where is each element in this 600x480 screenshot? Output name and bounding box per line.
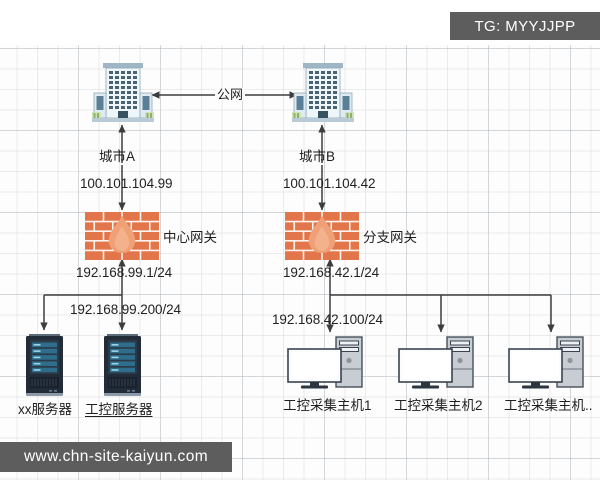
node-gateway-center[interactable]: [85, 212, 159, 265]
server-tower-icon: [104, 334, 141, 396]
node-server-ics[interactable]: [104, 334, 141, 401]
desktop-pc-icon: [398, 336, 474, 390]
node-label-gateway-branch: 分支网关: [363, 231, 417, 245]
node-city-b[interactable]: [292, 60, 354, 131]
diagram-canvas: 城市A: [0, 0, 600, 480]
node-label-city-a: 城市A: [99, 150, 135, 164]
node-host-pc2[interactable]: [398, 336, 474, 395]
node-gateway-branch[interactable]: [285, 212, 359, 265]
office-building-icon: [92, 60, 154, 126]
watermark-top-right: TG: MYYJJPP: [450, 12, 600, 40]
node-host-pc3[interactable]: [508, 336, 584, 395]
node-label-city-b: 城市B: [299, 150, 335, 164]
edge-label-branch-lan-gw: 192.168.42.1/24: [283, 266, 379, 280]
node-label-host-pc1: 工控采集主机1: [283, 399, 372, 413]
firewall-icon: [285, 212, 359, 260]
edge-label-branch-lan-host: 192.168.42.100/24: [272, 313, 383, 327]
edge-label-center-lan-gw: 192.168.99.1/24: [76, 266, 172, 280]
node-server-xx[interactable]: [26, 334, 63, 401]
edge-label-city-a-ip: 100.101.104.99: [80, 177, 172, 191]
watermark-bottom-left: www.chn-site-kaiyun.com: [0, 442, 232, 472]
node-host-pc1[interactable]: [287, 336, 363, 395]
node-city-a[interactable]: [92, 60, 154, 131]
edge-label-center-lan-host: 192.168.99.200/24: [70, 303, 181, 317]
node-label-gateway-center: 中心网关: [163, 231, 217, 245]
desktop-pc-icon: [287, 336, 363, 390]
node-label-host-pc2: 工控采集主机2: [394, 399, 483, 413]
edge-label-city-b-ip: 100.101.104.42: [283, 177, 375, 191]
server-tower-icon: [26, 334, 63, 396]
desktop-pc-icon: [508, 336, 584, 390]
edge-label-public-network: 公网: [215, 88, 245, 101]
node-label-server-xx: xx服务器: [18, 403, 72, 417]
node-label-server-ics: 工控服务器: [85, 403, 153, 417]
office-building-icon: [292, 60, 354, 126]
firewall-icon: [85, 212, 159, 260]
node-label-host-pc3: 工控采集主机..: [504, 399, 593, 413]
